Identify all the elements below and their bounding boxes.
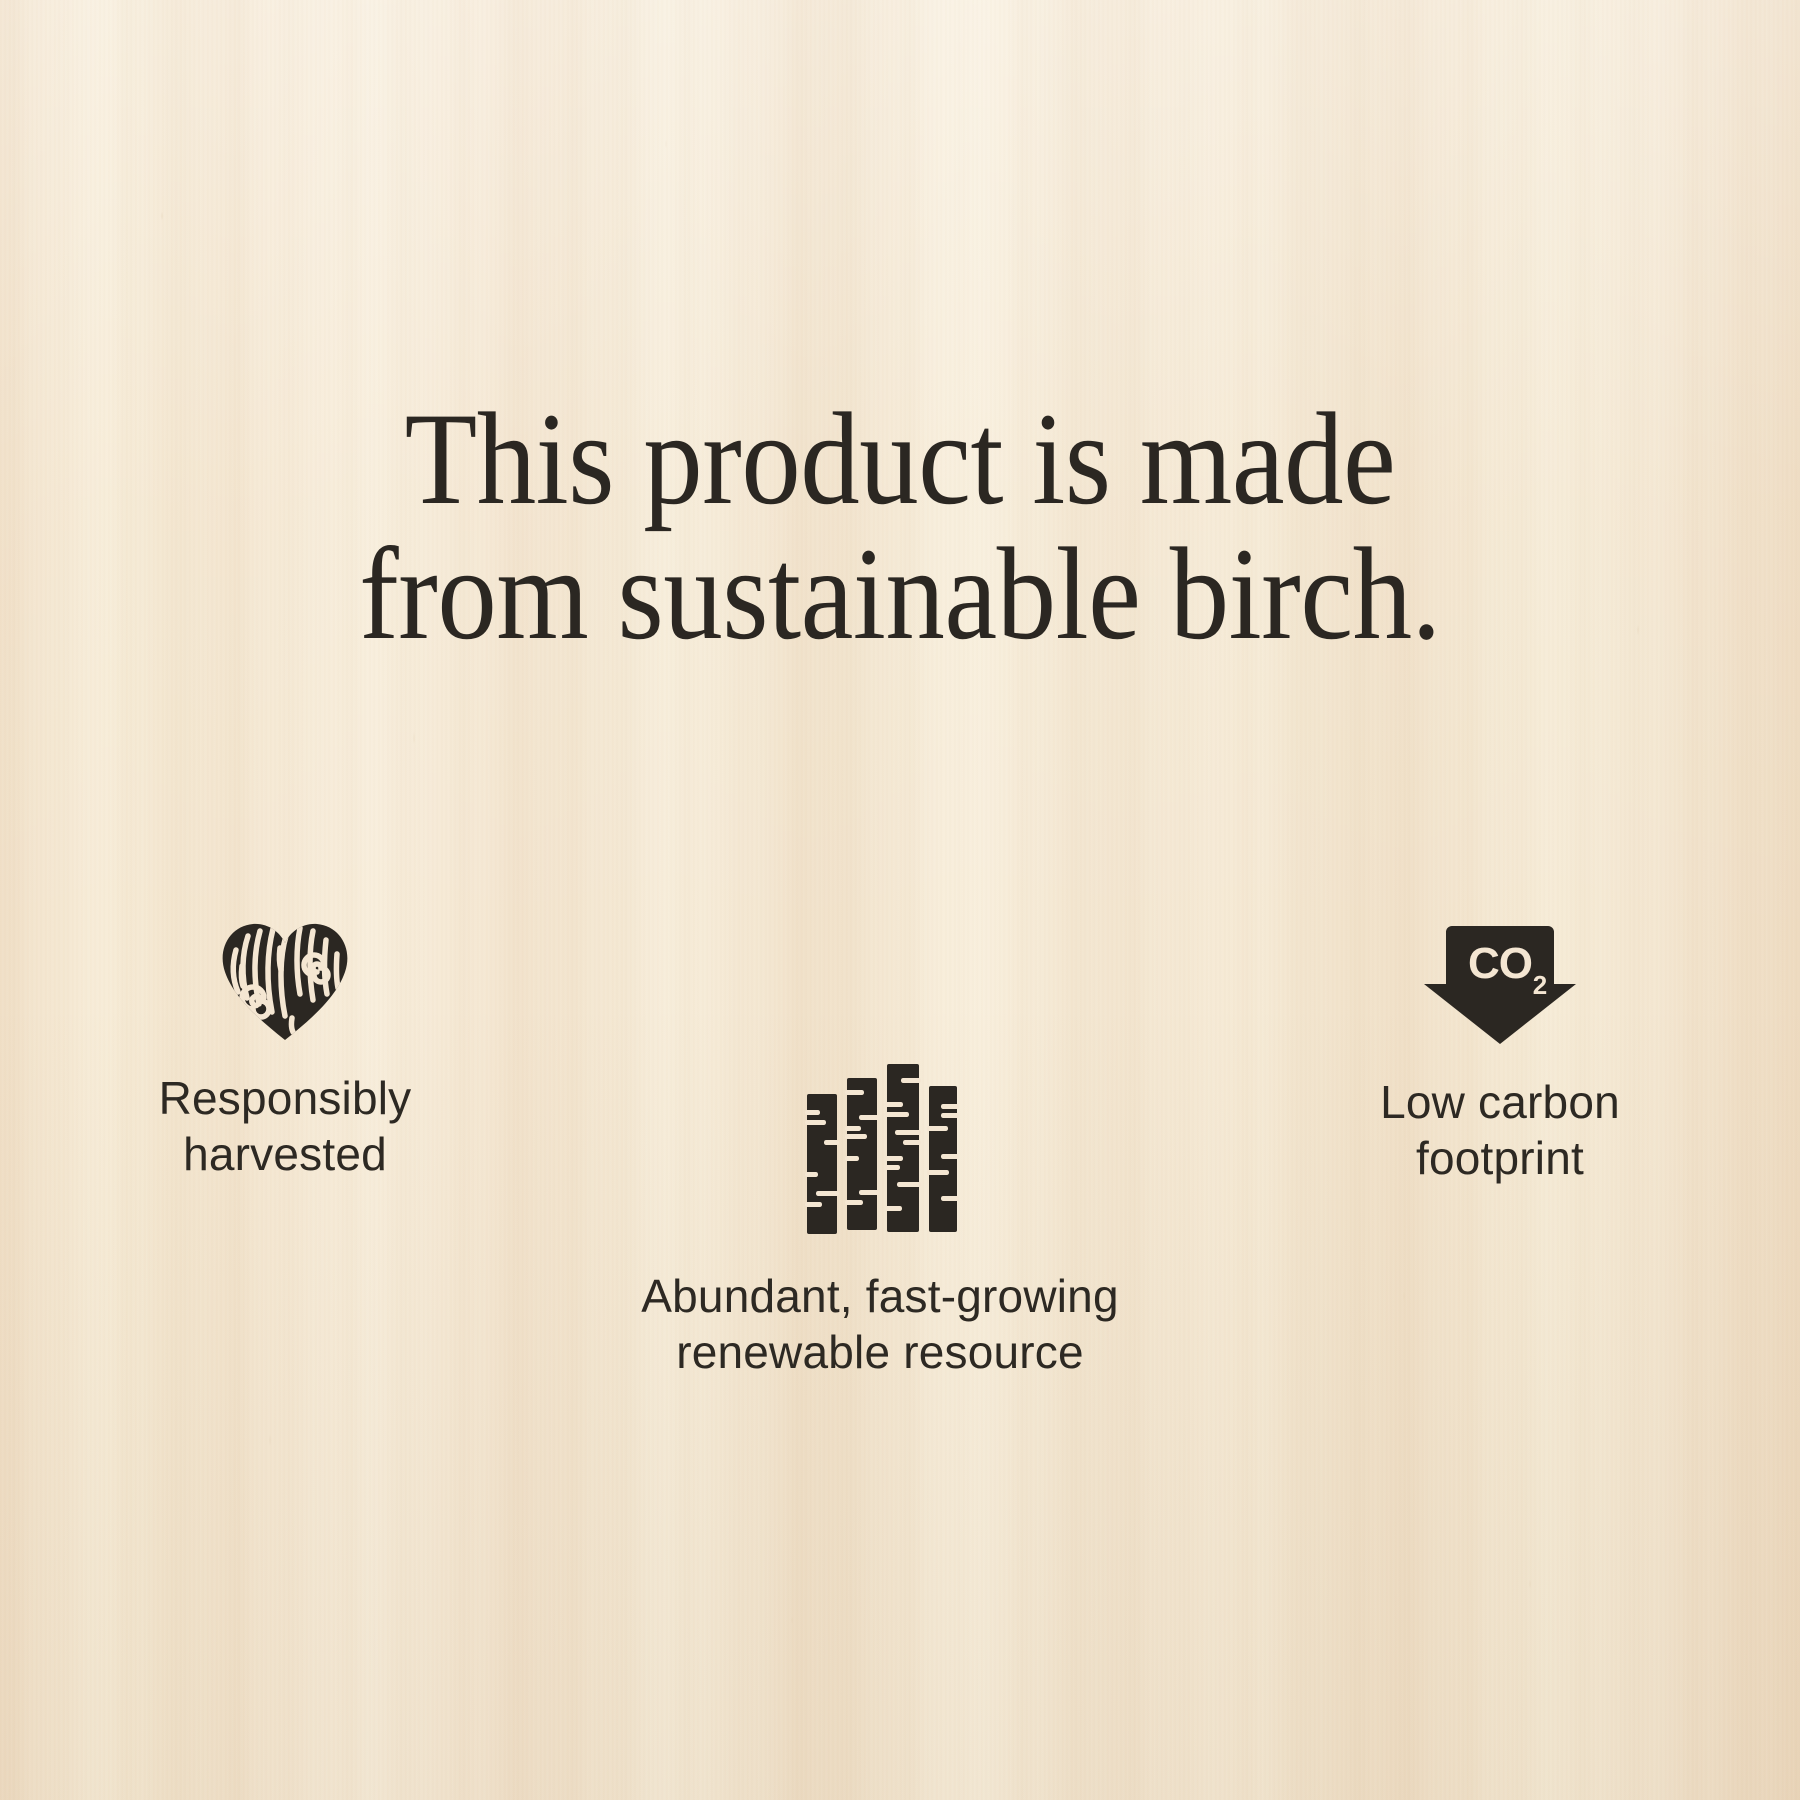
co2-icon-subscript: 2 (1533, 970, 1547, 1000)
sustainability-panel: This product is made from sustainable bi… (0, 0, 1800, 1800)
co2-icon-label: CO (1468, 939, 1532, 988)
wood-grain-heart-icon (220, 920, 350, 1042)
wood-grain-speckle (0, 0, 1800, 1800)
birch-trunks-icon (795, 1060, 965, 1240)
feature-label-renewable-resource: Abundant, fast-growing renewable resourc… (600, 1268, 1160, 1380)
feature-label-low-carbon-footprint: Low carbon footprint (1290, 1074, 1710, 1186)
feature-renewable-resource: Abundant, fast-growing renewable resourc… (600, 1060, 1160, 1380)
page-title: This product is made from sustainable bi… (90, 392, 1710, 661)
feature-low-carbon-footprint: CO 2 Low carbon footprint (1290, 920, 1710, 1186)
feature-responsibly-harvested: Responsibly harvested (80, 920, 490, 1182)
co2-down-arrow-icon: CO 2 (1416, 920, 1584, 1048)
feature-label-responsibly-harvested: Responsibly harvested (80, 1070, 490, 1182)
